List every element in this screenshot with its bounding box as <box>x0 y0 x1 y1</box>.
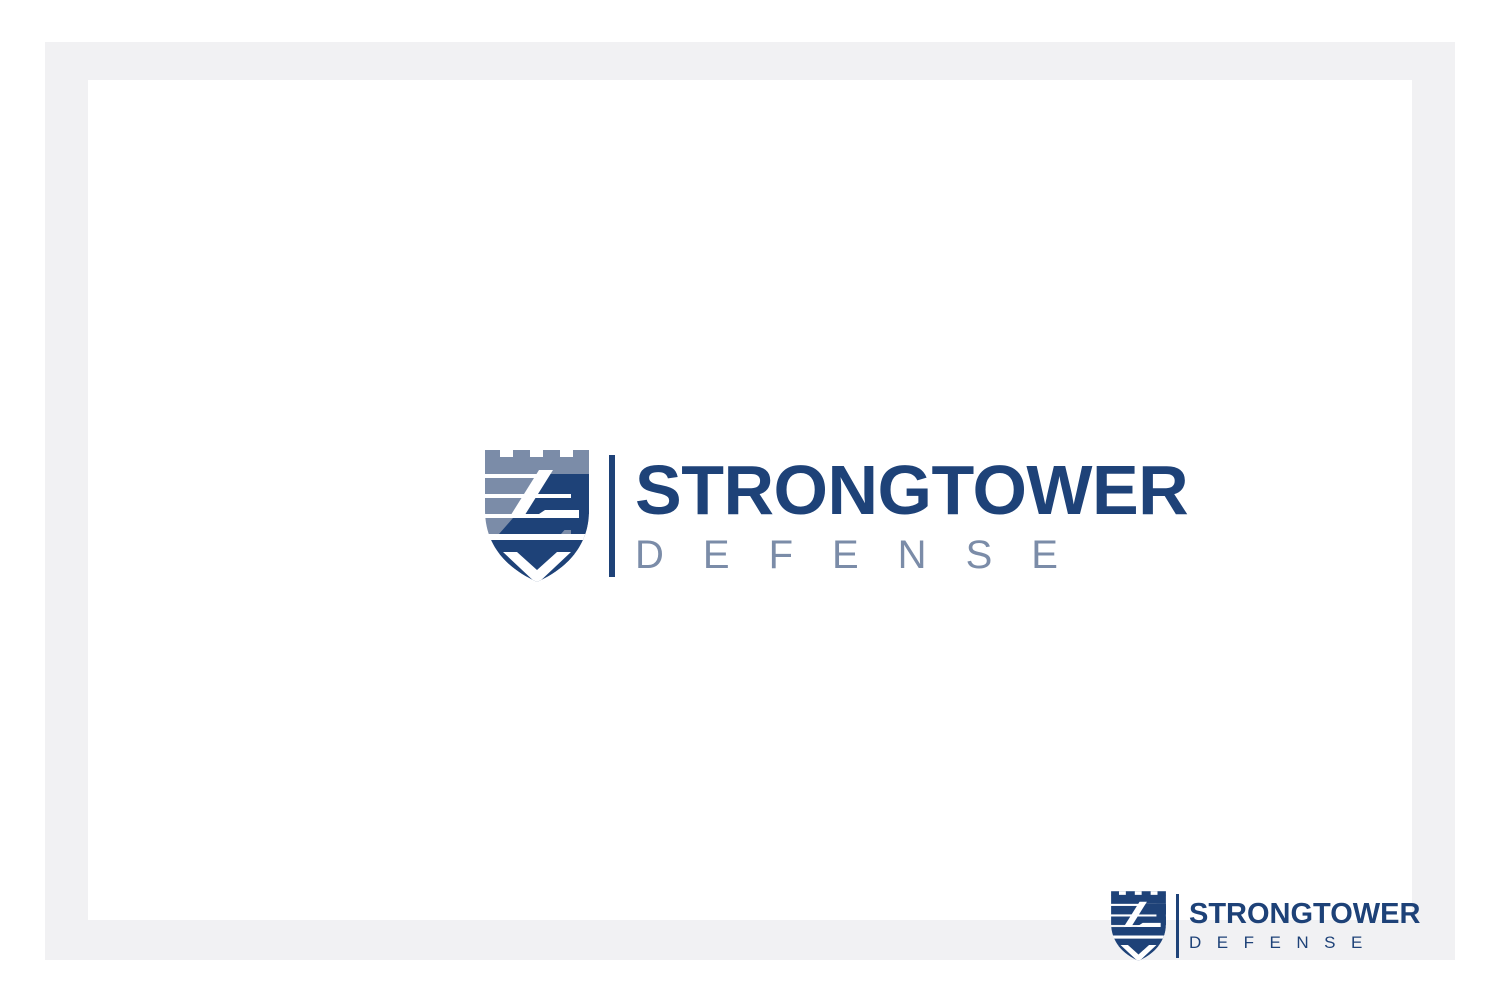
logo-divider-rule <box>1176 894 1179 958</box>
logo-wordblock: STRONGTOWER DEFENSE <box>1189 901 1420 951</box>
artboard: STRONGTOWER DEFENSE <box>88 80 1412 920</box>
logo-lockup-secondary[interactable]: STRONGTOWER DEFENSE <box>1110 890 1420 962</box>
logo-wordblock: STRONGTOWER DEFENSE <box>635 457 1188 574</box>
wordmark-defense: DEFENSE <box>635 535 1188 575</box>
wordmark-defense: DEFENSE <box>1189 934 1420 951</box>
wordmark-strongtower: STRONGTOWER <box>1189 901 1420 929</box>
logo-divider-rule <box>609 455 615 577</box>
wordmark-strongtower: STRONGTOWER <box>635 457 1188 524</box>
strongtower-shield-mark <box>1110 890 1167 962</box>
logo-lockup-primary[interactable]: STRONGTOWER DEFENSE <box>483 448 1188 584</box>
presentation-canvas: STRONGTOWER DEFENSE <box>0 0 1500 1000</box>
strongtower-shield-mark <box>483 448 591 584</box>
